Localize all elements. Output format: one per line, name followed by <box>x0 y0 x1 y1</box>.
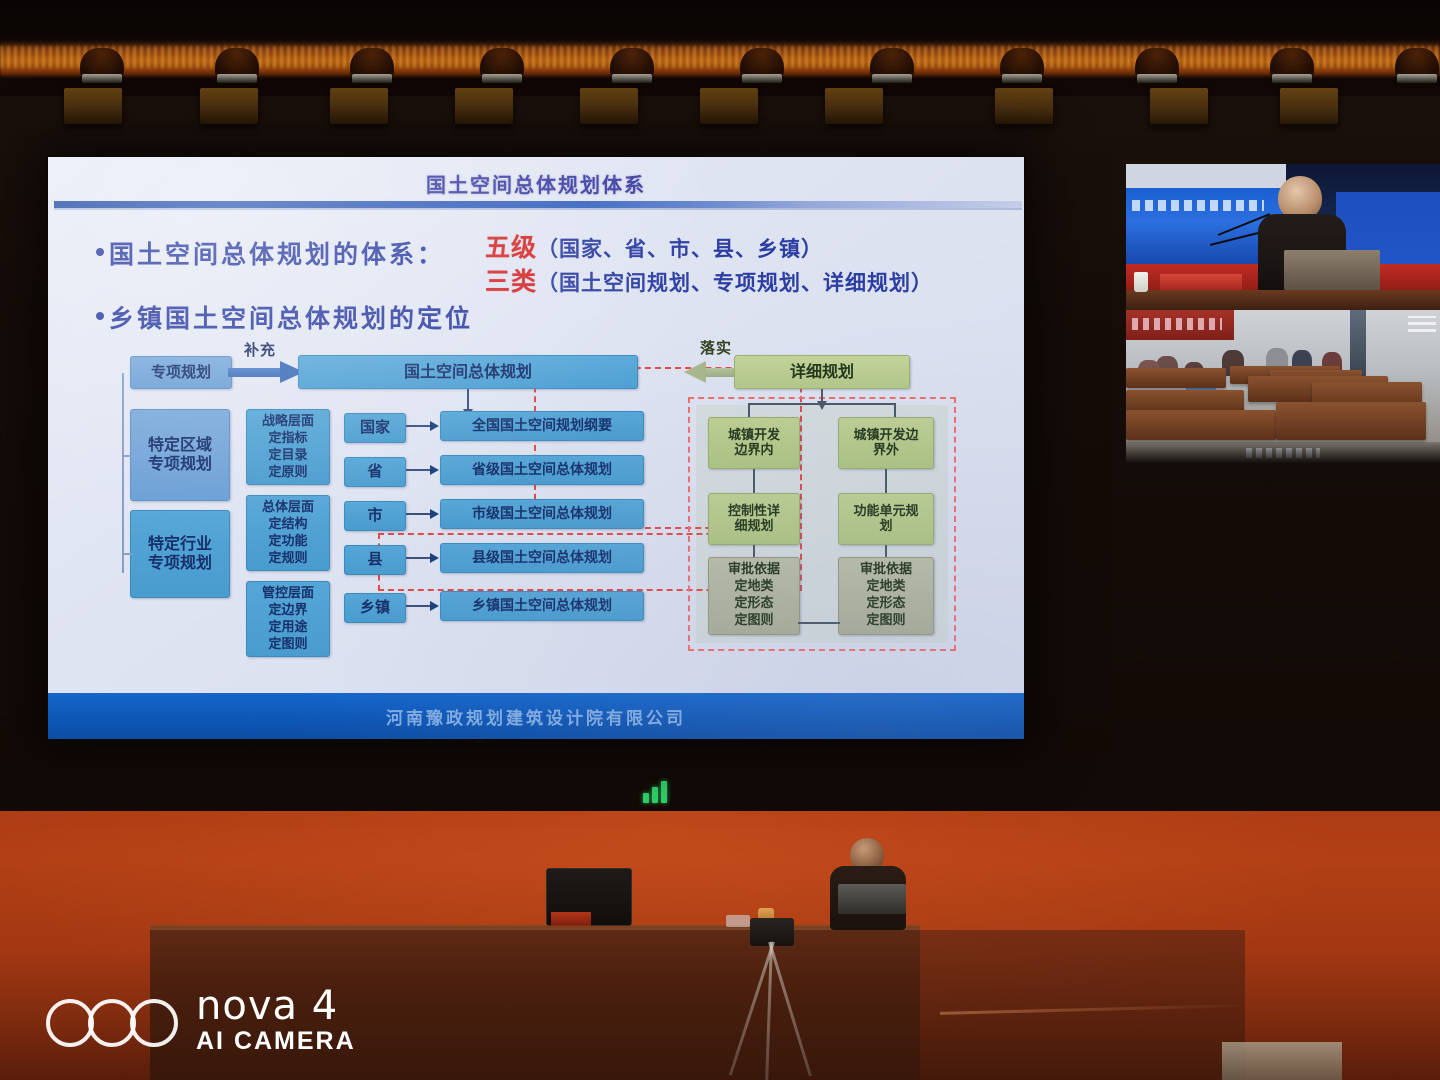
box-plan-township: 乡镇国土空间总体规划 <box>440 591 644 621</box>
slide-diagram: 专项规划 补充 国土空间总体规划 落实 详细规划 特定区域 专项规划 <box>48 347 1024 677</box>
ceiling-baffle <box>870 48 914 78</box>
key-value-2: （国土空间规划、专项规划、详细规划） <box>537 271 933 295</box>
ceiling-baffle <box>215 48 259 78</box>
presentation-slide: 国土空间总体规划体系 国土空间总体规划的体系： 乡镇国土空间总体规划的定位 五级… <box>48 157 1024 739</box>
audience-bench <box>1126 410 1276 440</box>
key-line-2: 三类（国土空间规划、专项规划、详细规划） <box>485 265 933 299</box>
connector <box>894 403 896 417</box>
tripod-leg <box>768 942 812 1077</box>
video-feed-audience[interactable] <box>1126 310 1440 464</box>
key-line-1: 五级（国家、省、市、县、乡镇） <box>485 231 933 265</box>
box-level-county: 县 <box>344 545 406 575</box>
box-plan-national: 全国国土空间规划纲要 <box>440 411 644 441</box>
ceiling-baffle <box>1270 48 1314 78</box>
feed-water-bottle <box>1134 272 1148 292</box>
left-spine-connector <box>122 373 124 573</box>
audience-bench <box>1126 368 1226 388</box>
bullet-label-2: 乡镇国土空间总体规划的定位 <box>109 299 473 335</box>
arrow-right-icon <box>430 465 439 475</box>
connector <box>753 545 755 557</box>
video-feed-speaker[interactable] <box>1126 164 1440 310</box>
supplement-arrow <box>228 361 304 383</box>
box-detail-plan: 详细规划 <box>734 355 910 389</box>
box-industry-special-plan: 特定行业 专项规划 <box>130 510 230 598</box>
ceiling-panel <box>1150 88 1208 124</box>
feed-bottom-shadow <box>1126 442 1440 464</box>
connector <box>885 545 887 557</box>
video-feed-panel <box>1126 164 1440 464</box>
ceiling-baffle <box>610 48 654 78</box>
box-level-township: 乡镇 <box>344 593 406 623</box>
bullet-dot-icon <box>96 248 104 256</box>
slide-footer: 河南豫政规划建筑设计院有限公司 <box>48 693 1024 739</box>
connector <box>406 605 432 607</box>
three-rings-icon <box>46 999 172 1047</box>
bullet-item-2: 乡镇国土空间总体规划的定位 <box>96 299 473 335</box>
bullet-label-1: 国土空间总体规划的体系： <box>109 235 445 271</box>
supplement-arrow-label: 补充 <box>244 339 276 360</box>
box-outside-approval-basis: 审批依据 定地类 定形态 定图则 <box>838 557 934 635</box>
box-functional-unit-plan: 功能单元规 划 <box>838 493 934 545</box>
box-overall-layer: 总体层面 定结构 定功能 定规则 <box>246 495 330 571</box>
box-level-province: 省 <box>344 457 406 487</box>
box-plan-province: 省级国土空间总体规划 <box>440 455 644 485</box>
bullet-dot-icon <box>96 312 104 320</box>
watermark-brand: nova 4 <box>196 985 356 1027</box>
ceiling-baffle <box>480 48 524 78</box>
ceiling-panel <box>995 88 1053 124</box>
connector <box>122 455 132 457</box>
key-term-2: 三类 <box>485 267 537 296</box>
ceiling-baffle <box>1000 48 1044 78</box>
box-special-plan: 专项规划 <box>130 356 232 389</box>
box-center-territorial-plan: 国土空间总体规划 <box>298 355 638 389</box>
ceiling-panel <box>1280 88 1338 124</box>
ceiling-baffle <box>80 48 124 78</box>
ceiling-panel <box>825 88 883 124</box>
speaker-laptop <box>838 884 906 914</box>
arrow-right-icon <box>430 553 439 563</box>
feed-timestamp <box>1408 316 1436 332</box>
connector <box>406 557 432 559</box>
ceiling-baffle <box>740 48 784 78</box>
arrow-shaft <box>228 368 282 377</box>
box-outside-dev-boundary: 城镇开发边 界外 <box>838 417 934 469</box>
box-plan-city: 市级国土空间总体规划 <box>440 499 644 529</box>
box-control-layer: 管控层面 定边界 定用途 定图则 <box>246 581 330 657</box>
floor-equipment-box <box>1222 1042 1342 1080</box>
box-level-city: 市 <box>344 501 406 531</box>
implement-arrow-label: 落实 <box>700 337 732 358</box>
connector <box>753 469 755 493</box>
connector <box>467 389 469 411</box>
feed-banner <box>1160 274 1242 290</box>
connector <box>748 403 750 417</box>
box-regional-special-plan: 特定区域 专项规划 <box>130 409 230 501</box>
connector <box>406 513 432 515</box>
box-regulatory-detail-plan: 控制性详 细规划 <box>708 493 800 545</box>
connector <box>122 553 132 555</box>
title-rule <box>54 201 1022 208</box>
bullet-item-1: 国土空间总体规划的体系： <box>96 235 445 271</box>
arrow-right-icon <box>430 509 439 519</box>
ceiling-baffle <box>1395 48 1439 78</box>
ceiling-baffle <box>350 48 394 78</box>
desk-nameplate <box>551 912 591 926</box>
arrow-tip <box>684 361 706 383</box>
key-term-1: 五级 <box>485 233 537 262</box>
watermark-subtitle: AI CAMERA <box>196 1027 356 1056</box>
arrow-right-icon <box>430 601 439 611</box>
camera-watermark: nova 4 AI CAMERA <box>46 985 406 1069</box>
connector <box>885 469 887 493</box>
box-strategic-layer: 战略层面 定指标 定目录 定原则 <box>246 409 330 485</box>
connector <box>406 469 432 471</box>
connector <box>798 622 840 624</box>
box-plan-county: 县级国土空间总体规划 <box>440 543 644 573</box>
screenshot-root: 国土空间总体规划体系 国土空间总体规划的体系： 乡镇国土空间总体规划的定位 五级… <box>0 0 1440 1080</box>
audience-bench <box>1276 402 1426 440</box>
ceiling-panel <box>330 88 388 124</box>
ceiling-panel <box>455 88 513 124</box>
ceiling-baffle <box>1135 48 1179 78</box>
feed-laptop <box>1284 250 1380 290</box>
box-inside-approval-basis: 审批依据 定地类 定形态 定图则 <box>708 557 800 635</box>
title-rule-thin <box>54 208 1022 210</box>
slide-footer-text: 河南豫政规划建筑设计院有限公司 <box>386 704 686 729</box>
ceiling-panel <box>200 88 258 124</box>
feed-banner-text <box>1132 318 1222 330</box>
connector <box>748 403 896 405</box>
feed-screen-text <box>1132 200 1264 211</box>
ceiling-panel <box>700 88 758 124</box>
slide-title: 国土空间总体规划体系 <box>156 169 916 198</box>
connector <box>406 425 432 427</box>
camera-tripod <box>718 918 822 1080</box>
watermark-text: nova 4 AI CAMERA <box>196 985 356 1056</box>
ceiling-panel <box>580 88 638 124</box>
projection-screen: 国土空间总体规划体系 国土空间总体规划的体系： 乡镇国土空间总体规划的定位 五级… <box>46 155 1026 741</box>
key-value-1: （国家、省、市、县、乡镇） <box>537 237 823 261</box>
arrow-right-icon <box>430 421 439 431</box>
box-inside-dev-boundary: 城镇开发 边界内 <box>708 417 800 469</box>
key-lines-group: 五级（国家、省、市、县、乡镇） 三类（国土空间规划、专项规划、详细规划） <box>485 231 933 298</box>
signal-bars-icon <box>643 777 675 803</box>
box-level-national: 国家 <box>344 413 406 443</box>
ceiling-panel <box>64 88 122 124</box>
feed-desk <box>1126 290 1440 310</box>
